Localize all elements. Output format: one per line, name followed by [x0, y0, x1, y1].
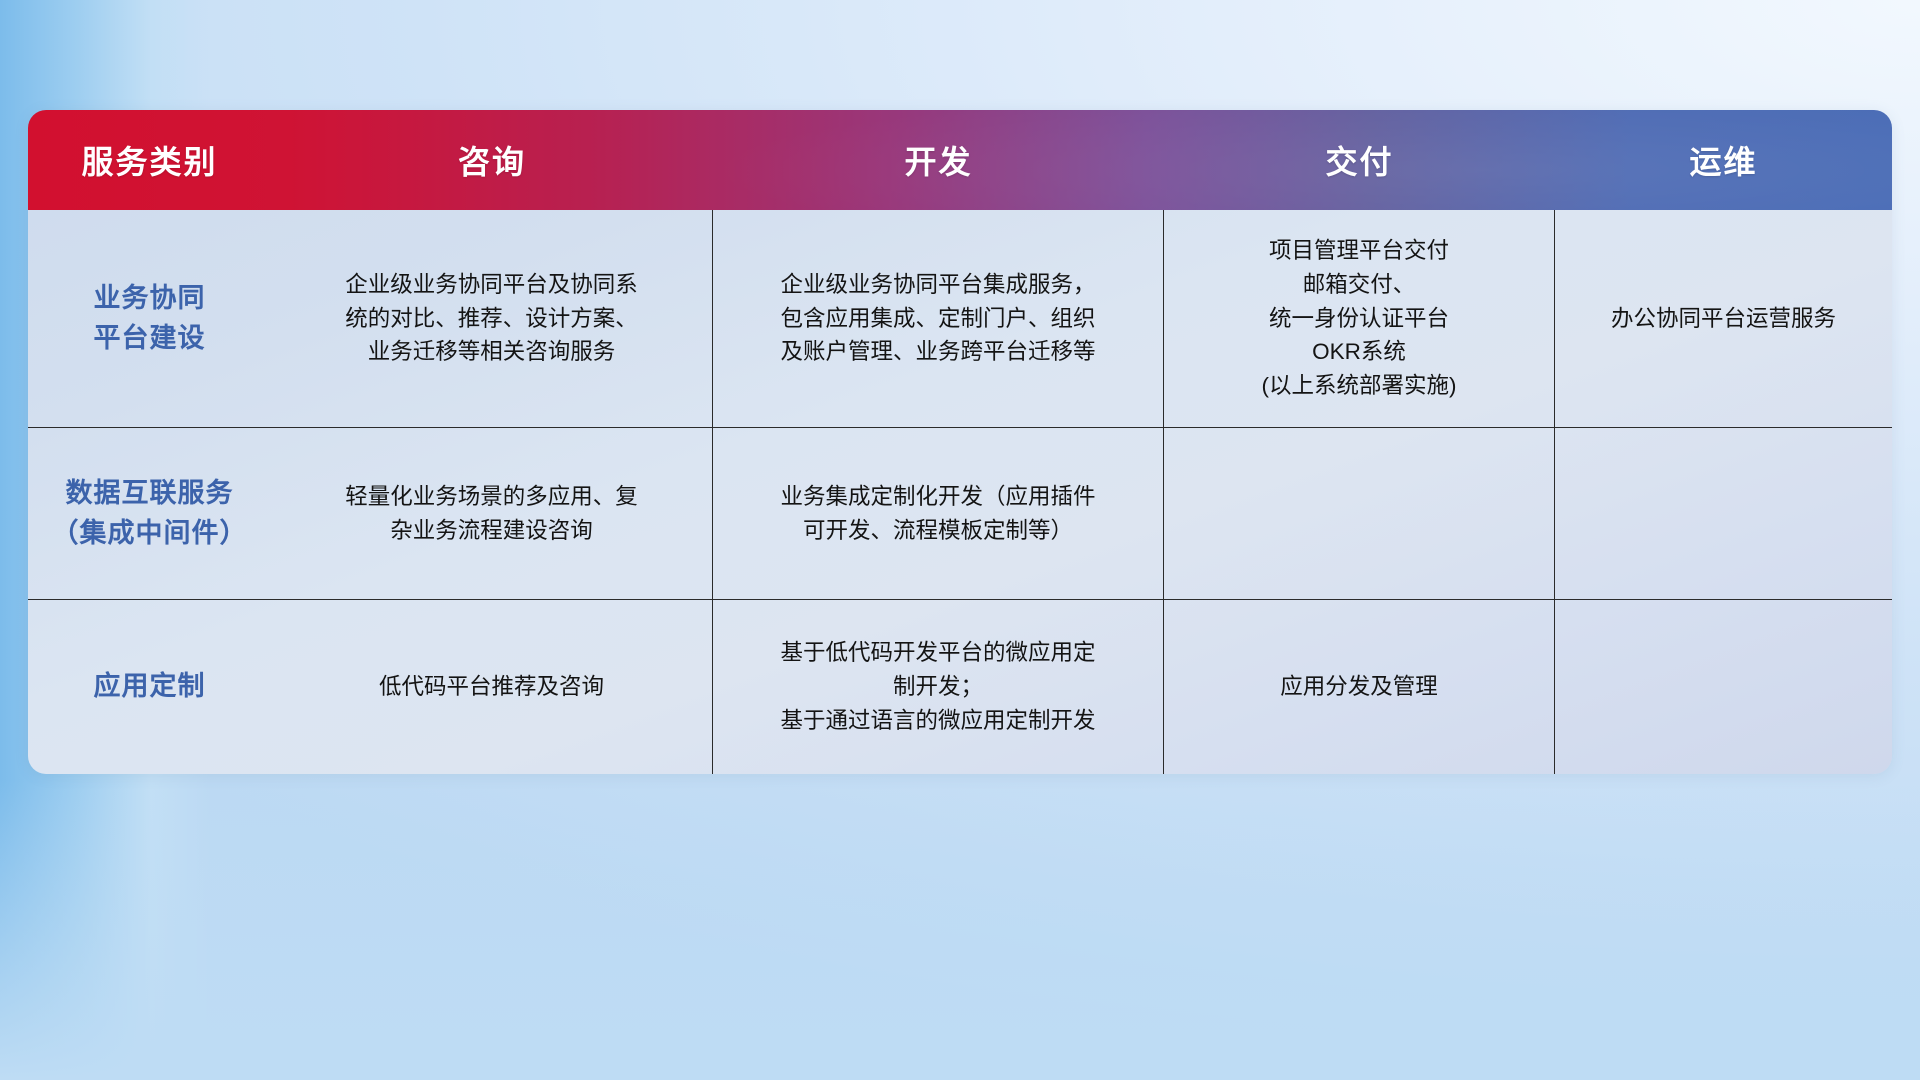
cell-consult-1: 企业级业务协同平台及协同系 统的对比、推荐、设计方案、 业务迁移等相关咨询服务 — [271, 210, 713, 427]
column-header-consult: 咨询 — [271, 110, 713, 210]
table-header-row: 服务类别 咨询 开发 交付 运维 — [28, 110, 1892, 210]
cell-category-2: 数据互联服务 （集成中间件） — [28, 428, 271, 599]
cell-operate-3 — [1555, 600, 1892, 774]
column-header-operate: 运维 — [1555, 110, 1892, 210]
cell-category-3: 应用定制 — [28, 600, 271, 774]
column-header-category: 服务类别 — [28, 110, 271, 210]
cell-deliver-1: 项目管理平台交付 邮箱交付、 统一身份认证平台 OKR系统 (以上系统部署实施) — [1164, 210, 1555, 427]
cell-consult-2: 轻量化业务场景的多应用、复 杂业务流程建设咨询 — [271, 428, 713, 599]
table-row: 业务协同 平台建设 企业级业务协同平台及协同系 统的对比、推荐、设计方案、 业务… — [28, 210, 1892, 428]
cell-develop-2: 业务集成定制化开发（应用插件 可开发、流程模板定制等） — [713, 428, 1164, 599]
cell-deliver-3: 应用分发及管理 — [1164, 600, 1555, 774]
table-row: 应用定制 低代码平台推荐及咨询 基于低代码开发平台的微应用定 制开发； 基于通过… — [28, 600, 1892, 774]
cell-develop-1: 企业级业务协同平台集成服务， 包含应用集成、定制门户、组织 及账户管理、业务跨平… — [713, 210, 1164, 427]
column-header-deliver: 交付 — [1164, 110, 1555, 210]
cell-consult-3: 低代码平台推荐及咨询 — [271, 600, 713, 774]
table-row: 数据互联服务 （集成中间件） 轻量化业务场景的多应用、复 杂业务流程建设咨询 业… — [28, 428, 1892, 600]
cell-deliver-2 — [1164, 428, 1555, 599]
table-body: 业务协同 平台建设 企业级业务协同平台及协同系 统的对比、推荐、设计方案、 业务… — [28, 210, 1892, 774]
cell-operate-1: 办公协同平台运营服务 — [1555, 210, 1892, 427]
cell-operate-2 — [1555, 428, 1892, 599]
column-header-develop: 开发 — [713, 110, 1164, 210]
cell-category-1: 业务协同 平台建设 — [28, 210, 271, 427]
cell-develop-3: 基于低代码开发平台的微应用定 制开发； 基于通过语言的微应用定制开发 — [713, 600, 1164, 774]
service-category-table: 服务类别 咨询 开发 交付 运维 业务协同 平台建设 企业级业务协同平台及协同系… — [28, 110, 1892, 774]
